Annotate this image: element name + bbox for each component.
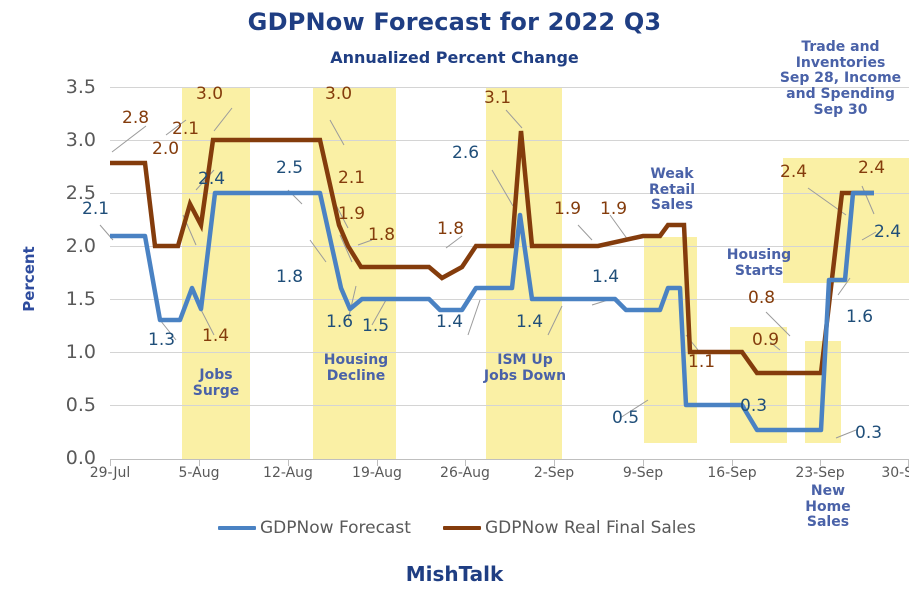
value-label-real-final-sales: 1.8: [437, 219, 464, 239]
legend-label-forecast: GDPNow Forecast: [260, 518, 411, 538]
value-label-forecast: 1.4: [592, 267, 619, 287]
value-label-forecast: 1.4: [436, 312, 463, 332]
value-label-forecast: 2.4: [874, 222, 901, 242]
value-label-forecast: 0.3: [855, 423, 882, 443]
value-label-forecast: 1.4: [516, 312, 543, 332]
legend-swatch-real-final-sales-icon: [443, 526, 481, 530]
x-tick-5-aug: 5-Aug: [159, 465, 239, 481]
value-label-real-final-sales: 3.0: [325, 84, 352, 104]
x-tick-12-aug: 12-Aug: [248, 465, 328, 481]
value-label-forecast: 1.8: [276, 267, 303, 287]
value-label-forecast: 1.6: [846, 307, 873, 327]
legend-label-real-final-sales: GDPNow Real Final Sales: [485, 518, 696, 538]
legend-item-real-final-sales[interactable]: GDPNow Real Final Sales: [443, 518, 696, 538]
value-label-real-final-sales: 2.0: [152, 139, 179, 159]
x-tick-16-sep: 16-Sep: [692, 465, 772, 481]
value-label-real-final-sales: 2.1: [172, 119, 199, 139]
x-tick-23-sep: 23-Sep: [780, 465, 860, 481]
annotation-jobs-surge: Jobs Surge: [176, 368, 256, 399]
value-label-real-final-sales: 0.9: [752, 330, 779, 350]
value-label-real-final-sales: 1.9: [554, 199, 581, 219]
value-label-real-final-sales: 0.8: [748, 288, 775, 308]
x-tick-30-sep: 30-Sep: [866, 465, 909, 481]
x-tick-26-aug: 26-Aug: [425, 465, 505, 481]
chart-container: GDPNow Forecast for 2022 Q3 Annualized P…: [0, 0, 909, 609]
chart-legend: GDPNow Forecast GDPNow Real Final Sales: [0, 518, 909, 548]
annotation-trade-inventories: Trade and Inventories Sep 28, Income and…: [772, 40, 909, 118]
value-label-forecast: 1.3: [148, 330, 175, 350]
value-label-forecast: 2.4: [198, 169, 225, 189]
value-label-forecast: 2.6: [452, 143, 479, 163]
annotation-housing-decline: Housing Decline: [310, 353, 402, 384]
value-label-real-final-sales: 1.8: [368, 225, 395, 245]
annotation-ism-up-jobs-down: ISM Up Jobs Down: [476, 353, 574, 384]
x-tick-2-sep: 2-Sep: [514, 465, 594, 481]
value-label-forecast: 1.6: [326, 312, 353, 332]
value-label-forecast: 2.5: [276, 158, 303, 178]
x-tick-9-sep: 9-Sep: [603, 465, 683, 481]
value-label-real-final-sales: 1.1: [688, 352, 715, 372]
x-tick-29-jul: 29-Jul: [70, 465, 150, 481]
annotation-weak-retail-sales: Weak Retail Sales: [634, 167, 710, 214]
value-label-real-final-sales: 2.4: [858, 158, 885, 178]
legend-item-forecast[interactable]: GDPNow Forecast: [218, 518, 411, 538]
value-label-real-final-sales: 3.1: [484, 88, 511, 108]
value-label-real-final-sales: 1.4: [202, 326, 229, 346]
value-label-real-final-sales: 3.0: [196, 84, 223, 104]
value-label-forecast: 0.3: [740, 396, 767, 416]
annotation-housing-starts: Housing Starts: [716, 248, 802, 279]
value-label-real-final-sales: 2.1: [338, 168, 365, 188]
value-label-forecast: 0.5: [612, 408, 639, 428]
value-label-forecast: 2.1: [82, 199, 109, 219]
value-label-real-final-sales: 1.9: [338, 204, 365, 224]
value-label-forecast: 1.5: [362, 316, 389, 336]
legend-swatch-forecast-icon: [218, 526, 256, 530]
x-tick-19-aug: 19-Aug: [337, 465, 417, 481]
value-label-real-final-sales: 2.4: [780, 162, 807, 182]
value-label-real-final-sales: 1.9: [600, 199, 627, 219]
value-label-real-final-sales: 2.8: [122, 108, 149, 128]
